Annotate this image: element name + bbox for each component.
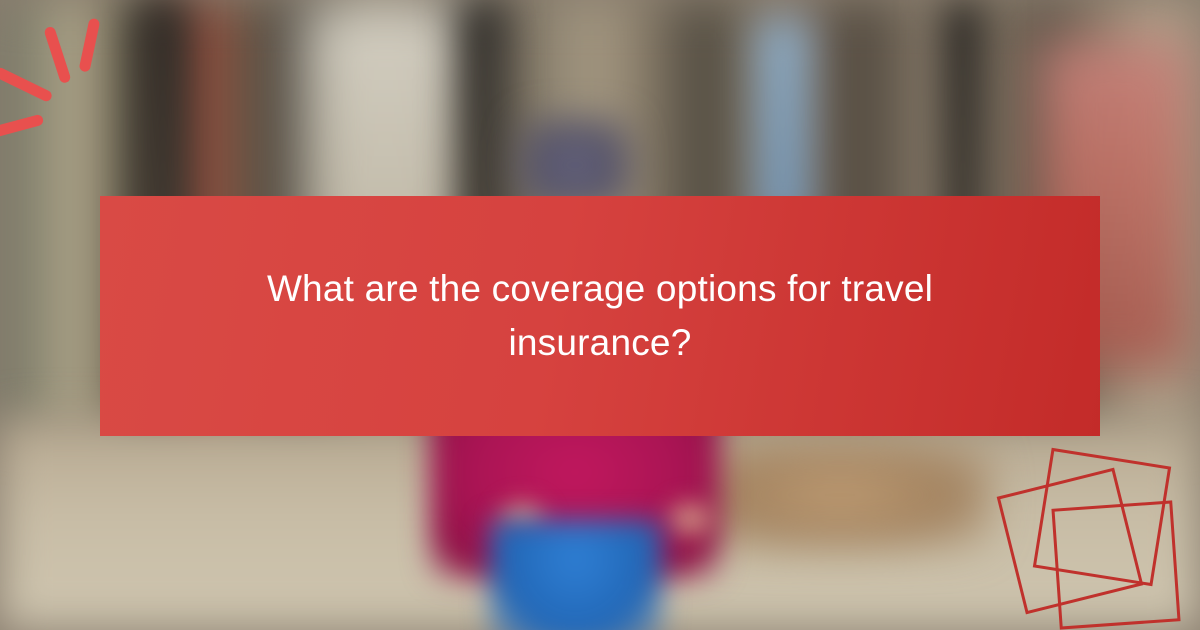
headline-banner: What are the coverage options for travel…	[100, 196, 1100, 436]
person-hand-right	[660, 495, 720, 543]
background-bench	[690, 440, 990, 550]
diamond-outline-icon	[985, 410, 1200, 630]
spark-burst-icon	[0, 10, 170, 150]
person-legs	[488, 520, 663, 630]
poster-canvas: What are the coverage options for travel…	[0, 0, 1200, 630]
headline-text: What are the coverage options for travel…	[220, 262, 980, 370]
